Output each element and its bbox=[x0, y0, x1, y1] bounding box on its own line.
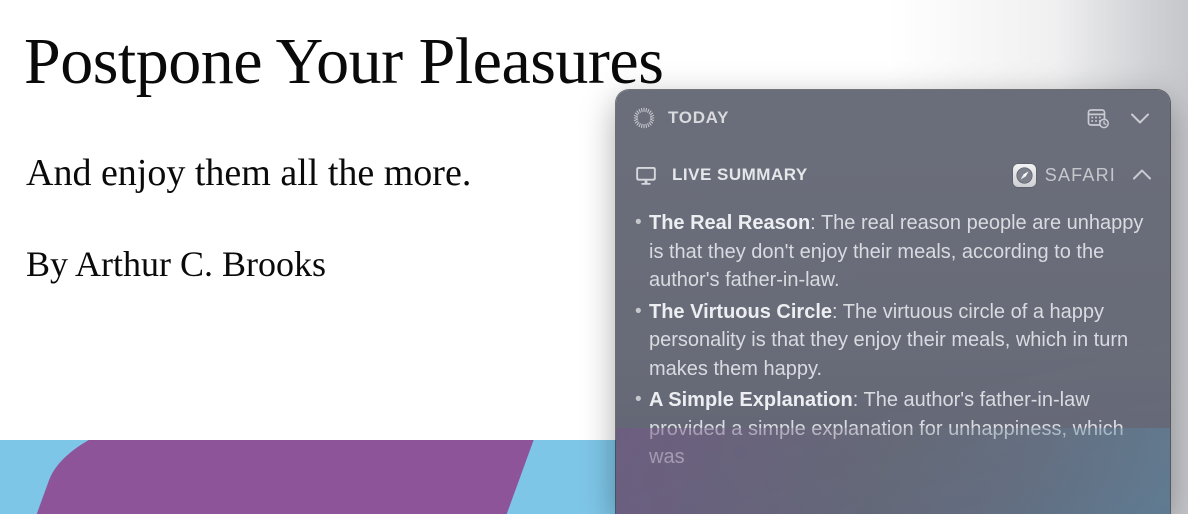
summary-bullet-list: • The Real Reason: The real reason peopl… bbox=[616, 203, 1170, 472]
page-title: Postpone Your Pleasures bbox=[24, 26, 664, 97]
safari-source-label: SAFARI bbox=[1045, 165, 1116, 186]
live-summary-panel[interactable]: TODAY bbox=[616, 90, 1170, 514]
article-byline: By Arthur C. Brooks bbox=[26, 245, 664, 285]
list-item: • The Real Reason: The real reason peopl… bbox=[634, 209, 1152, 295]
bullet-separator: : bbox=[810, 212, 821, 234]
today-label: TODAY bbox=[668, 108, 729, 128]
bullet-marker: • bbox=[634, 386, 649, 415]
list-item: • A Simple Explanation: The author's fat… bbox=[634, 386, 1152, 472]
chevron-down-icon[interactable] bbox=[1126, 104, 1154, 132]
bullet-lead: The Real Reason bbox=[649, 212, 810, 234]
bullet-marker: • bbox=[634, 209, 649, 238]
live-summary-label: LIVE SUMMARY bbox=[672, 165, 808, 185]
article-header: Postpone Your Pleasures And enjoy them a… bbox=[24, 26, 664, 285]
live-summary-header-row[interactable]: LIVE SUMMARY SAFARI bbox=[616, 147, 1170, 203]
article-dek: And enjoy them all the more. bbox=[26, 153, 664, 195]
bullet-separator: : bbox=[832, 301, 843, 323]
bullet-marker: • bbox=[634, 298, 649, 327]
display-monitor-icon bbox=[632, 161, 660, 189]
radial-burst-icon bbox=[630, 104, 658, 132]
today-header-row[interactable]: TODAY bbox=[616, 90, 1170, 147]
list-item: • The Virtuous Circle: The virtuous circ… bbox=[634, 298, 1152, 384]
bullet-content: A Simple Explanation: The author's fathe… bbox=[649, 386, 1152, 472]
chevron-up-icon[interactable] bbox=[1128, 161, 1156, 189]
bullet-content: The Virtuous Circle: The virtuous circle… bbox=[649, 298, 1152, 384]
safari-compass-icon[interactable] bbox=[1013, 164, 1036, 187]
bullet-content: The Real Reason: The real reason people … bbox=[649, 209, 1152, 295]
bullet-separator: : bbox=[853, 389, 864, 411]
artwork-shape-purple-band bbox=[5, 440, 544, 514]
bullet-lead: A Simple Explanation bbox=[649, 389, 853, 411]
calendar-clock-icon[interactable] bbox=[1084, 104, 1112, 132]
bullet-lead: The Virtuous Circle bbox=[649, 301, 832, 323]
